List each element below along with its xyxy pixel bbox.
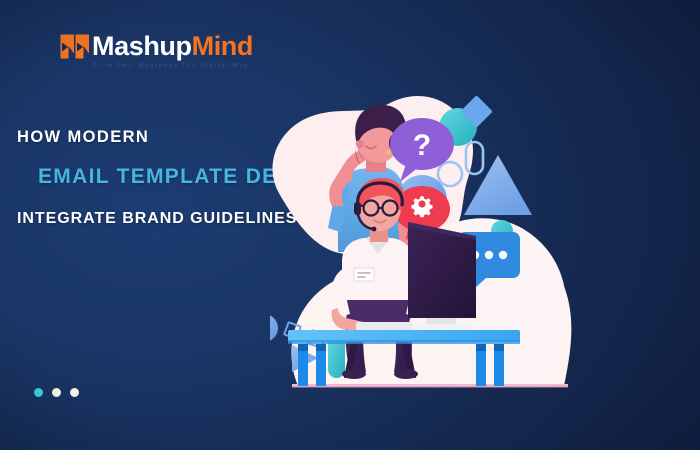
dot-2[interactable] <box>52 388 61 397</box>
floor-shadow <box>292 386 568 388</box>
logo-word-one: Mashup <box>92 31 192 61</box>
svg-text:?: ? <box>413 129 431 162</box>
brand-logo[interactable]: MashupMind Grow Your Business The Digita… <box>60 33 253 69</box>
dot-3[interactable] <box>70 388 79 397</box>
logo-wordmark: MashupMind <box>92 33 253 60</box>
mashup-m-mark-icon <box>60 33 90 60</box>
promo-banner: MashupMind Grow Your Business The Digita… <box>0 0 700 450</box>
computer-monitor <box>408 222 476 330</box>
logo-word-two: Mind <box>192 31 253 61</box>
triangle-blue-large <box>464 155 532 215</box>
hero-illustration: ? <box>270 0 700 450</box>
logo-tagline: Grow Your Business The Digital Way <box>92 62 253 69</box>
carousel-pagination[interactable] <box>34 388 79 397</box>
circle-blue-medium-3 <box>270 314 278 342</box>
dot-active[interactable] <box>34 388 43 397</box>
keyboard <box>356 322 412 330</box>
